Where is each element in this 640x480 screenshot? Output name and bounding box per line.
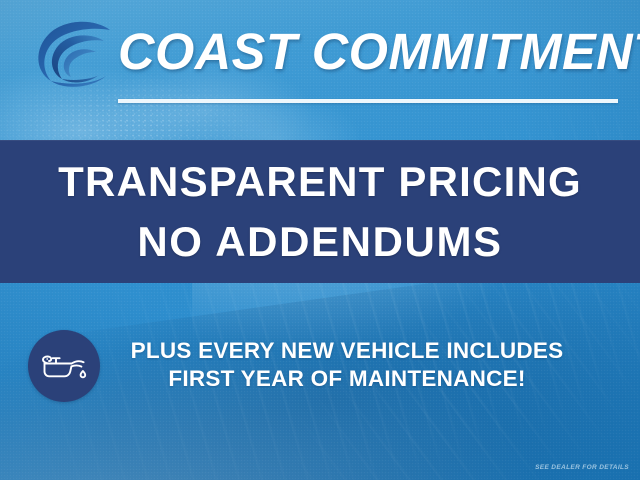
coast-wave-swirl-logo-icon <box>24 18 118 90</box>
banner-header: COAST COMMITMENT <box>0 0 640 140</box>
oil-can-badge <box>28 330 100 402</box>
headline-line-2: NO ADDENDUMS <box>137 212 502 272</box>
header-divider <box>118 99 618 103</box>
disclaimer-text: SEE DEALER FOR DETAILS <box>535 464 629 471</box>
page-title: COAST COMMITMENT <box>118 23 619 81</box>
headline-line-1: TRANSPARENT PRICING <box>58 152 582 212</box>
maintenance-promo-text: PLUS EVERY NEW VEHICLE INCLUDES FIRST YE… <box>110 325 584 405</box>
oil-can-icon <box>40 349 88 383</box>
headline-band: TRANSPARENT PRICING NO ADDENDUMS <box>0 140 640 283</box>
promo-line-1: PLUS EVERY NEW VEHICLE INCLUDES <box>131 337 564 365</box>
coast-commitment-banner: COAST COMMITMENT TRANSPARENT PRICING NO … <box>0 0 640 480</box>
maintenance-promo-row: PLUS EVERY NEW VEHICLE INCLUDES FIRST YE… <box>0 325 640 405</box>
promo-line-2: FIRST YEAR OF MAINTENANCE! <box>168 365 525 393</box>
